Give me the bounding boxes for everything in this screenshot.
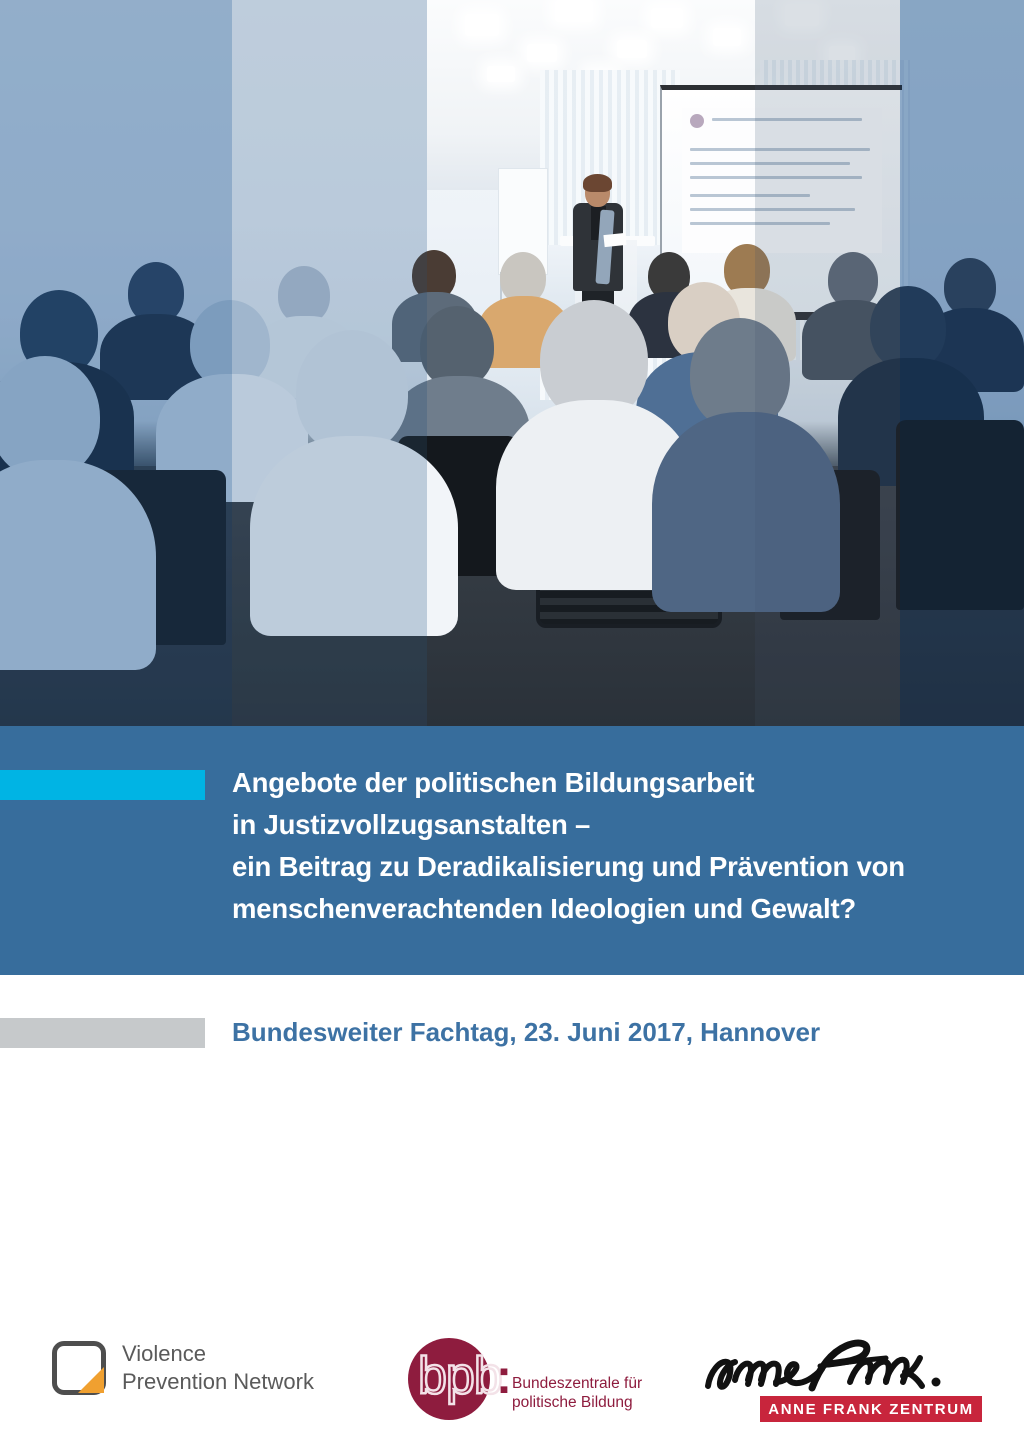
title-band: Angebote der politischen Bildungsarbeit … — [0, 726, 1024, 975]
ceiling-light-icon — [785, 4, 819, 26]
title-line-1: Angebote der politischen Bildungsarbeit — [232, 762, 1002, 804]
ceiling-light-icon — [555, 0, 593, 22]
projected-slide — [682, 108, 882, 253]
ceiling-light-icon — [617, 40, 647, 58]
anne-frank-zentrum-band: ANNE FRANK ZENTRUM — [760, 1396, 982, 1422]
bpb-line-2: politische Bildung — [512, 1393, 642, 1412]
logo-violence-prevention-network: Violence Prevention Network — [52, 1340, 314, 1396]
anne-frank-signature-icon — [700, 1336, 985, 1398]
ceiling-light-icon — [487, 66, 515, 82]
title-line-3: ein Beitrag zu Deradikalisierung und Prä… — [232, 846, 1002, 888]
signature-period-icon — [932, 1378, 941, 1387]
ceiling-light-icon — [465, 14, 499, 36]
title-line-2: in Justizvollzugsanstalten – — [232, 804, 1002, 846]
bpb-colon-icon: : — [496, 1354, 512, 1402]
speaker-hair — [583, 174, 612, 192]
chair — [896, 420, 1024, 610]
ceiling-light-icon — [527, 44, 557, 62]
hero-image — [0, 0, 1024, 726]
logo-row: Violence Prevention Network bpb : Bundes… — [0, 1320, 1024, 1448]
title-line-4: menschenverachtenden Ideologien und Gewa… — [232, 888, 1002, 930]
bpb-wordmark: bpb — [418, 1350, 502, 1402]
anne-frank-zentrum-label: ANNE FRANK ZENTRUM — [768, 1401, 973, 1418]
vpn-line-1: Violence — [122, 1340, 314, 1368]
vpn-triangle-icon — [78, 1367, 104, 1393]
vpn-mark-icon — [52, 1341, 106, 1395]
ceiling-light-icon — [713, 28, 741, 46]
title-accent-bar — [0, 770, 205, 800]
speaker-papers — [603, 233, 626, 247]
page-title: Angebote der politischen Bildungsarbeit … — [232, 762, 1002, 930]
bpb-subtitle: Bundeszentrale für politische Bildung — [512, 1374, 642, 1412]
subtitle-accent-bar — [0, 1018, 205, 1048]
bpb-line-1: Bundeszentrale für — [512, 1374, 642, 1393]
logo-anne-frank-zentrum: ANNE FRANK ZENTRUM — [700, 1334, 990, 1434]
vpn-line-2: Prevention Network — [122, 1368, 314, 1396]
event-subtitle: Bundesweiter Fachtag, 23. Juni 2017, Han… — [232, 1012, 820, 1052]
vpn-wordmark: Violence Prevention Network — [122, 1340, 314, 1396]
slide-logo-icon — [690, 114, 704, 128]
conference-room-scene — [0, 0, 1024, 726]
logo-bpb: bpb : Bundeszentrale für politische Bild… — [408, 1334, 638, 1430]
ceiling-light-icon — [651, 8, 683, 28]
